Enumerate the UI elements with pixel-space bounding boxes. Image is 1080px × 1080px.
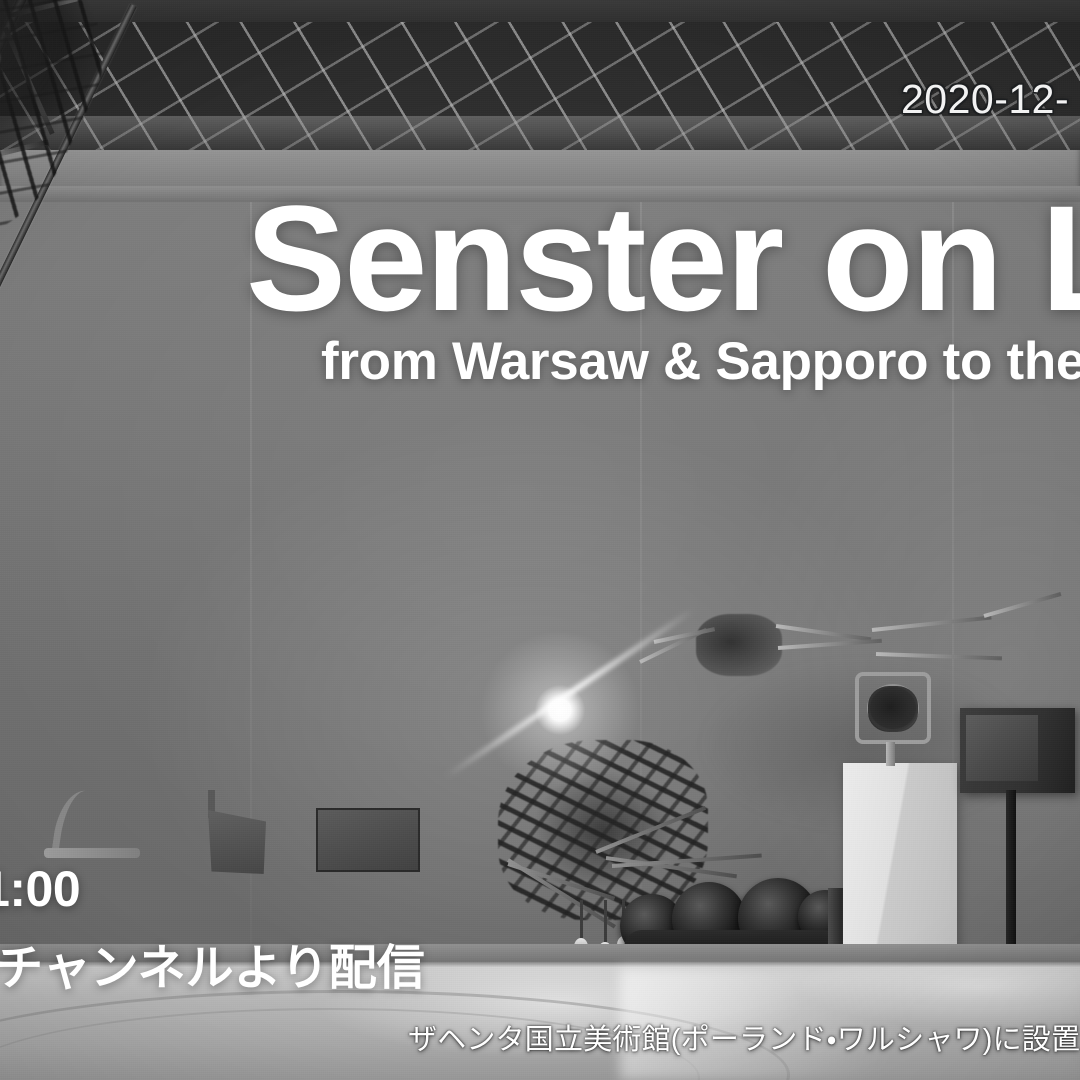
text-overlay: 2020-12- Senster on L from Warsaw & Sapp… xyxy=(0,0,1080,1080)
schedule-channel: Tubeチャンネルより配信 xyxy=(0,928,425,998)
date-badge: 2020-12- xyxy=(901,76,1069,123)
photo-caption: ザヘンタ国立美術館(ポーランド・ワルシャワ)に設置されている xyxy=(408,1016,1080,1058)
page-title: Senster on L xyxy=(246,183,1080,333)
page-subtitle: from Warsaw & Sapporo to the xyxy=(321,334,1080,390)
schedule-time: 00-21:00 xyxy=(0,860,425,918)
schedule-block: 00-21:00 Tubeチャンネルより配信 xyxy=(0,860,425,998)
title-card-stage: 2020-12- Senster on L from Warsaw & Sapp… xyxy=(0,0,1080,1080)
